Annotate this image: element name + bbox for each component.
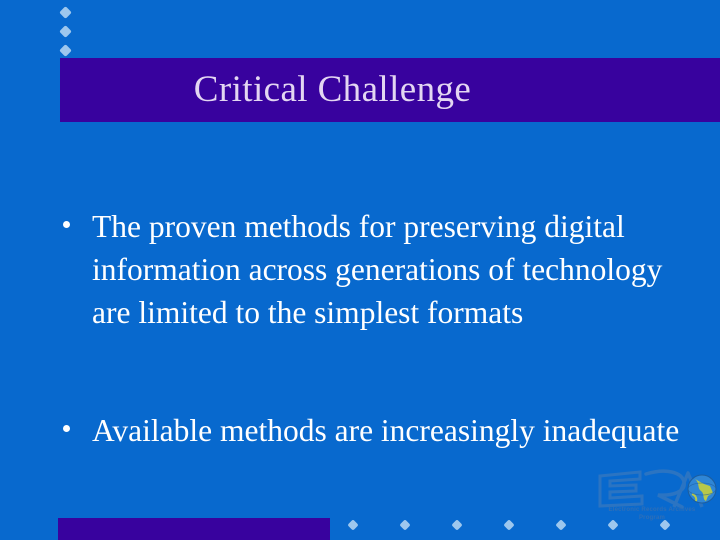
decorative-dot-icon <box>555 519 566 530</box>
bullet-marker-icon <box>63 425 70 432</box>
bullet-text: Available methods are increasingly inade… <box>92 409 685 452</box>
slide-body: The proven methods for preserving digita… <box>55 205 685 452</box>
title-banner: Critical Challenge <box>60 58 720 122</box>
bottom-accent-bar <box>58 518 330 540</box>
slide-title: Critical Challenge <box>60 58 605 122</box>
bullet-item: The proven methods for preserving digita… <box>55 205 685 334</box>
decorative-dot-icon <box>503 519 514 530</box>
decorative-dot-icon <box>59 44 72 57</box>
bullet-text: The proven methods for preserving digita… <box>92 205 685 334</box>
era-logo: Electronic Records Archives Program <box>596 466 720 528</box>
era-logo-caption: Electronic Records Archives Program <box>596 506 708 522</box>
slide-canvas: Critical Challenge The proven methods fo… <box>0 0 720 540</box>
decorative-dot-icon <box>347 519 358 530</box>
era-logo-caption-line2: Program <box>596 514 708 522</box>
bullet-item: Available methods are increasingly inade… <box>55 409 685 452</box>
decorative-dot-icon <box>59 25 72 38</box>
era-logo-caption-line1: Electronic Records Archives <box>596 506 708 514</box>
bullet-marker-icon <box>63 221 70 228</box>
decorative-dot-icon <box>451 519 462 530</box>
era-logo-mark-icon <box>596 466 720 511</box>
decorative-dot-icon <box>59 6 72 19</box>
decorative-dot-icon <box>399 519 410 530</box>
